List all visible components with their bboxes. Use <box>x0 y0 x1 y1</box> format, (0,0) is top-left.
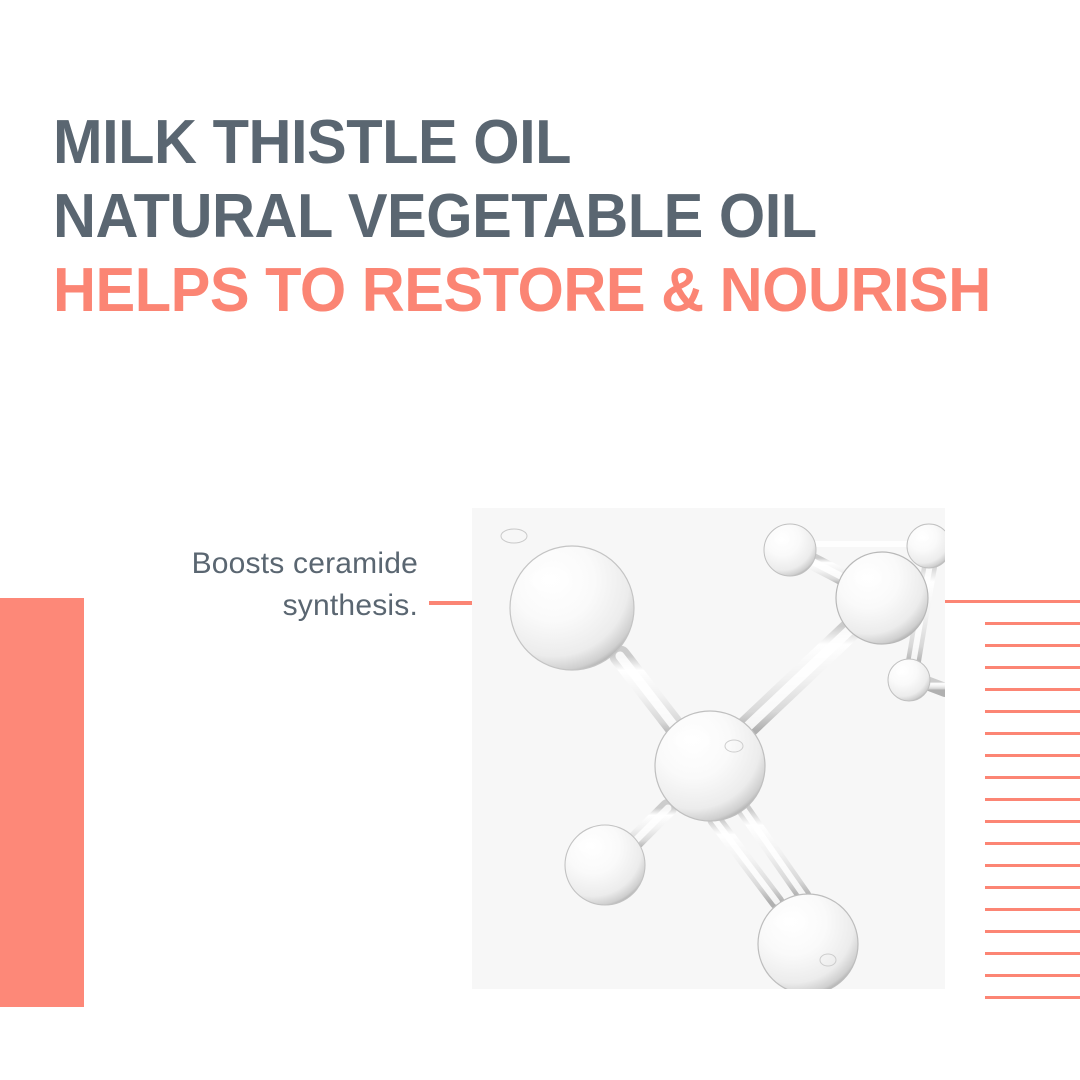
atom-lower-right-medium <box>758 894 858 989</box>
atom-top-small-left <box>764 524 816 576</box>
molecule-diagram <box>472 508 945 989</box>
molecule-image-panel <box>472 508 945 989</box>
annotation-line-1: Boosts ceramide <box>110 543 418 585</box>
headline-line-1: MILK THISTLE OIL <box>53 106 1003 180</box>
atom-top-small-right <box>907 524 945 568</box>
coral-rule-line <box>985 798 1080 801</box>
coral-rule-line <box>985 754 1080 757</box>
headline-block: MILK THISTLE OIL NATURAL VEGETABLE OIL H… <box>53 106 1043 328</box>
coral-rule-line <box>985 644 1080 647</box>
coral-rule-line <box>985 666 1080 669</box>
coral-rule-line <box>985 842 1080 845</box>
headline-line-3: HELPS TO RESTORE & NOURISH <box>53 254 1003 328</box>
coral-accent-block <box>0 598 84 1007</box>
headline-line-2: NATURAL VEGETABLE OIL <box>53 180 1003 254</box>
coral-rule-line <box>985 952 1080 955</box>
coral-rule-line <box>985 864 1080 867</box>
infographic-canvas: MILK THISTLE OIL NATURAL VEGETABLE OIL H… <box>0 0 1080 1080</box>
coral-rule-line <box>945 600 1080 603</box>
atom-lower-left-small <box>565 825 645 905</box>
coral-rule-line <box>985 820 1080 823</box>
coral-rule-line <box>985 776 1080 779</box>
coral-rule-line <box>985 622 1080 625</box>
annotation-line-2: synthesis. <box>110 585 418 627</box>
coral-rule-line <box>985 732 1080 735</box>
annotation-connector-line <box>429 601 474 605</box>
coral-rule-line <box>985 710 1080 713</box>
annotation-caption: Boosts ceramide synthesis. <box>110 543 418 627</box>
coral-rule-line <box>985 996 1080 999</box>
coral-rule-line <box>985 886 1080 889</box>
coral-rule-line <box>985 930 1080 933</box>
atom-right-small-lower <box>888 659 930 701</box>
atom-upper-right-node <box>836 552 928 644</box>
coral-rule-line <box>985 908 1080 911</box>
coral-rule-line <box>985 974 1080 977</box>
coral-rule-line <box>985 688 1080 691</box>
atom-center-main <box>655 711 765 821</box>
